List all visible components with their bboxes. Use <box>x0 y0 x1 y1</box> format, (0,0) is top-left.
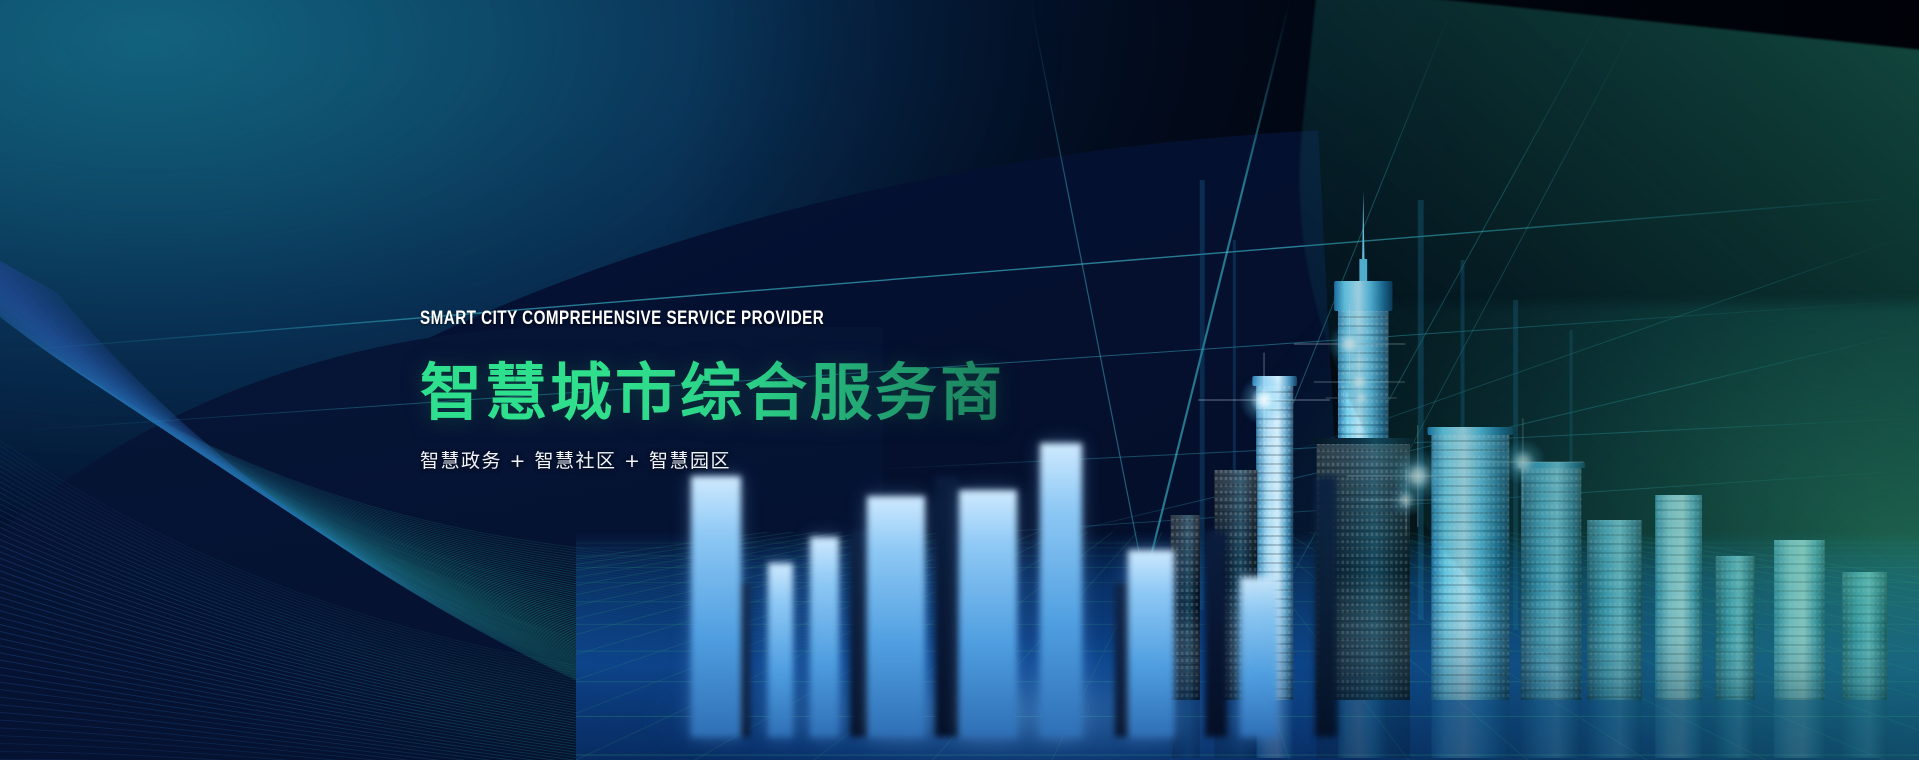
foreground-bar <box>867 496 925 737</box>
foreground-bar <box>768 563 793 737</box>
foreground-bar-dark <box>1205 530 1227 737</box>
foreground-bar <box>959 490 1017 737</box>
foreground-bar <box>1128 550 1174 737</box>
foreground-bar-dark <box>935 476 957 737</box>
green-corner-glow <box>1228 304 1919 760</box>
hero-text-block: SMART CITY COMPREHENSIVE SERVICE PROVIDE… <box>420 308 1005 473</box>
foreground-bar <box>1040 443 1082 737</box>
hero-headline: 智慧城市综合服务商 <box>420 342 1005 432</box>
foreground-bar <box>691 476 741 737</box>
foreground-bar <box>810 537 839 738</box>
smart-city-hero-banner: SMART CITY COMPREHENSIVE SERVICE PROVIDE… <box>0 0 1919 760</box>
hero-eyebrow-english: SMART CITY COMPREHENSIVE SERVICE PROVIDE… <box>420 308 888 330</box>
hero-subline: 智慧政务 + 智慧社区 + 智慧园区 <box>420 446 1005 473</box>
